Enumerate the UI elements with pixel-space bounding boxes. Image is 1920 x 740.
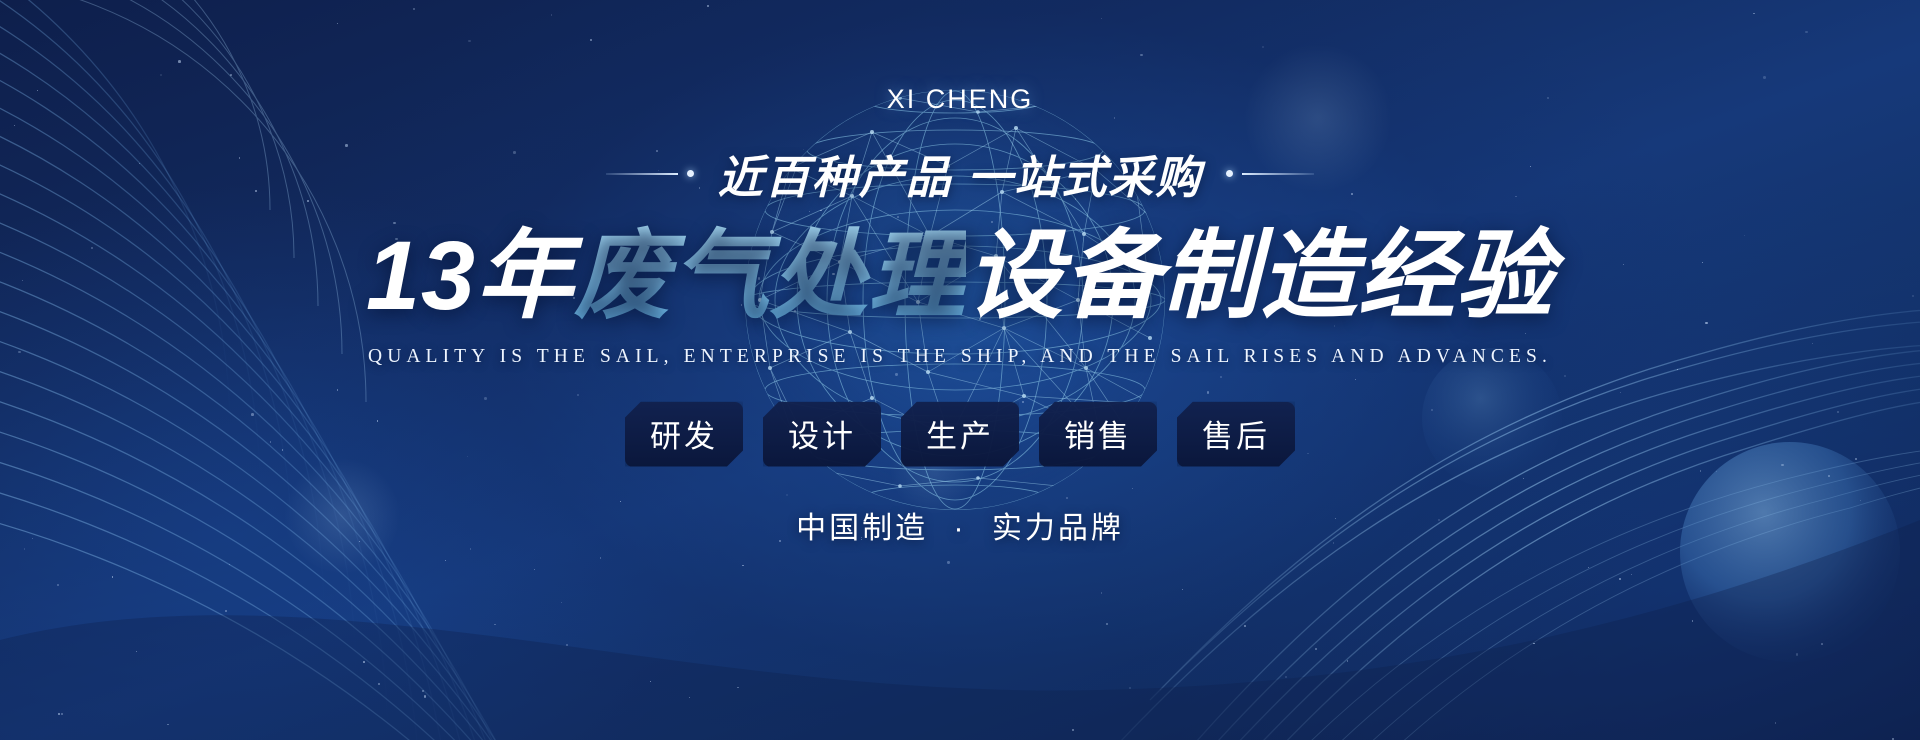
decorative-line-right (1226, 170, 1314, 177)
service-pill-4[interactable]: 销售 (1039, 402, 1157, 467)
decorative-line-left (606, 170, 694, 177)
subtitle-text: 近百种产品 一站式采购 (718, 141, 1203, 206)
service-pill-row: 研发设计生产销售售后 (625, 402, 1295, 467)
subtitle-row: 近百种产品 一站式采购 (606, 141, 1315, 206)
english-tagline: QUALITY IS THE SAIL, ENTERPRISE IS THE S… (368, 346, 1552, 368)
brand-name-english: XI CHENG (887, 84, 1034, 115)
hero-banner: XI CHENG 近百种产品 一站式采购 13年废气处理设备制造经验 QUALI… (0, 0, 1920, 740)
decorative-dot (687, 170, 694, 177)
footnote: 中国制造 · 实力品牌 (796, 503, 1124, 547)
service-pill-2[interactable]: 设计 (763, 402, 881, 467)
headline-part-years: 13年 (366, 221, 574, 330)
headline-part-tail: 设备制造经验 (966, 221, 1554, 330)
decorative-bar (1242, 173, 1314, 175)
service-pill-1[interactable]: 研发 (625, 402, 743, 467)
footnote-right: 实力品牌 (992, 512, 1124, 545)
headline-part-highlight: 废气处理 (574, 221, 966, 330)
footnote-left: 中国制造 (796, 512, 928, 545)
service-pill-3[interactable]: 生产 (901, 402, 1019, 467)
decorative-dot (1226, 170, 1233, 177)
headline: 13年废气处理设备制造经验 (366, 220, 1554, 332)
service-pill-5[interactable]: 售后 (1177, 402, 1295, 467)
decorative-bar (606, 173, 678, 175)
footnote-separator: · (940, 512, 981, 545)
